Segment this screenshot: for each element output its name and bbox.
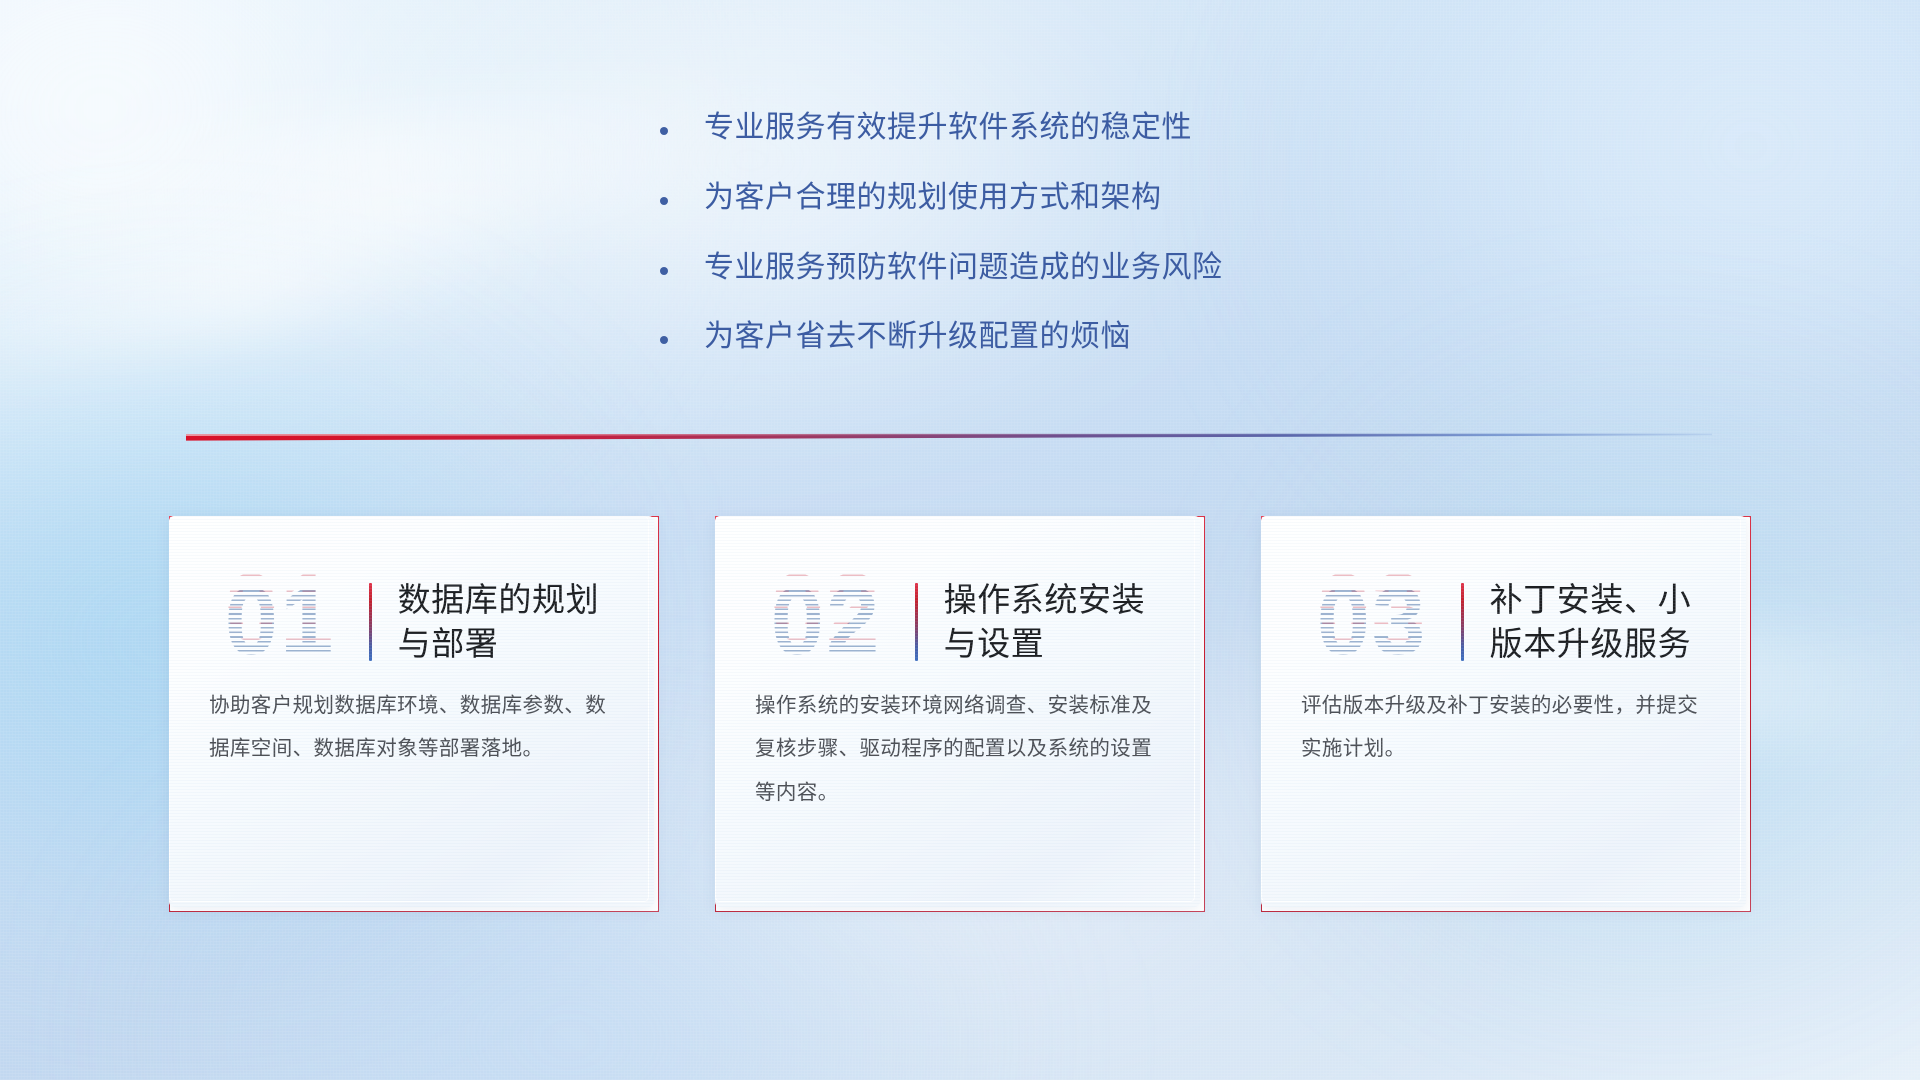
card-title-rule	[915, 583, 918, 661]
bullet-dot-icon	[660, 336, 668, 344]
section-divider	[186, 429, 1712, 442]
slide-content: 专业服务有效提升软件系统的稳定性 为客户合理的规划使用方式和架构 专业服务预防软…	[0, 0, 1920, 1080]
card-title-line: 版本升级服务	[1490, 622, 1730, 666]
bullet-item: 为客户合理的规划使用方式和架构	[660, 178, 1420, 219]
bullet-dot-icon	[660, 197, 668, 205]
card-description: 协助客户规划数据库环境、数据库参数、数据库空间、数据库对象等部署落地。	[209, 684, 612, 771]
benefits-bullet-list: 专业服务有效提升软件系统的稳定性 为客户合理的规划使用方式和架构 专业服务预防软…	[660, 108, 1420, 387]
service-card[interactable]: 03 03 补丁安装、小 版本升级服务 评估版本升级及补丁安装的必要性，并提交实…	[1261, 516, 1751, 912]
bullet-item: 专业服务预防软件问题造成的业务风险	[660, 248, 1420, 289]
service-card[interactable]: 01 01 数据库的规划 与部署 协助客户规划数据库环境、数据库参数、数据库空间…	[169, 516, 659, 912]
card-header: 03 03 补丁安装、小 版本升级服务	[1261, 516, 1746, 684]
bullet-label: 为客户合理的规划使用方式和架构	[704, 178, 1162, 219]
bullet-item: 为客户省去不断升级配置的烦恼	[660, 317, 1420, 358]
bullet-dot-icon	[660, 127, 668, 135]
card-title-line: 与部署	[398, 622, 638, 666]
card-title-rule	[1461, 583, 1464, 661]
card-header: 01 01 数据库的规划 与部署	[169, 516, 654, 684]
card-number-watermark: 03	[1297, 574, 1447, 670]
service-card[interactable]: 02 02 操作系统安装 与设置 操作系统的安装环境网络调查、安装标准及复核步骤…	[715, 516, 1205, 912]
card-title-rule	[369, 583, 372, 661]
bullet-label: 为客户省去不断升级配置的烦恼	[704, 317, 1131, 358]
service-card-list: 01 01 数据库的规划 与部署 协助客户规划数据库环境、数据库参数、数据库空间…	[0, 516, 1920, 912]
card-number-watermark: 02	[751, 574, 901, 670]
card-title: 操作系统安装 与设置	[944, 578, 1200, 666]
card-title-line: 补丁安装、小	[1490, 578, 1730, 622]
bullet-label: 专业服务有效提升软件系统的稳定性	[704, 108, 1192, 149]
card-description: 操作系统的安装环境网络调查、安装标准及复核步骤、驱动程序的配置以及系统的设置等内…	[755, 684, 1158, 814]
card-surface: 01 01 数据库的规划 与部署 协助客户规划数据库环境、数据库参数、数据库空间…	[169, 516, 654, 907]
card-title-line: 与设置	[944, 622, 1184, 666]
card-surface: 03 03 补丁安装、小 版本升级服务 评估版本升级及补丁安装的必要性，并提交实…	[1261, 516, 1746, 907]
card-description: 评估版本升级及补丁安装的必要性，并提交实施计划。	[1301, 684, 1704, 771]
card-title: 数据库的规划 与部署	[398, 578, 654, 666]
card-title-line: 操作系统安装	[944, 578, 1184, 622]
card-surface: 02 02 操作系统安装 与设置 操作系统的安装环境网络调查、安装标准及复核步骤…	[715, 516, 1200, 907]
card-title-line: 数据库的规划	[398, 578, 638, 622]
bullet-dot-icon	[660, 267, 668, 275]
card-header: 02 02 操作系统安装 与设置	[715, 516, 1200, 684]
bullet-item: 专业服务有效提升软件系统的稳定性	[660, 108, 1420, 149]
card-number-watermark: 01	[205, 574, 355, 670]
bullet-label: 专业服务预防软件问题造成的业务风险	[704, 248, 1223, 289]
card-title: 补丁安装、小 版本升级服务	[1490, 578, 1746, 666]
